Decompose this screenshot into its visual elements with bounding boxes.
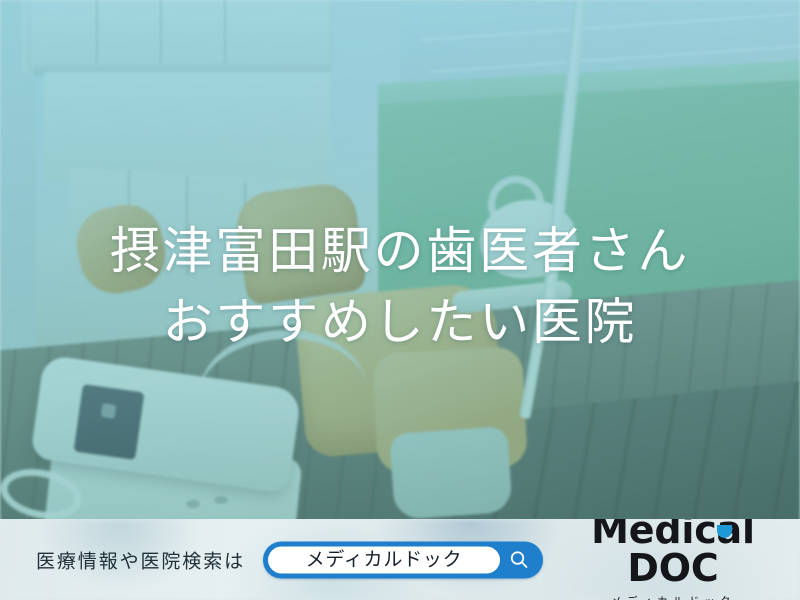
search-icon[interactable] bbox=[500, 541, 538, 578]
page-title: 摂津富田駅の歯医者さん おすすめしたい医院 bbox=[0, 216, 800, 358]
headline-line-1: 摂津富田駅の歯医者さん bbox=[0, 216, 800, 287]
brand-logo[interactable]: Medical DOC メディカルドック bbox=[570, 519, 776, 600]
headline-line-2: おすすめしたい医院 bbox=[0, 287, 800, 358]
search-input-value: メディカルドック bbox=[306, 550, 463, 569]
promo-banner: 摂津富田駅の歯医者さん おすすめしたい医院 医療情報や医院検索は メディカルドッ… bbox=[0, 0, 800, 600]
footer-bar: 医療情報や医院検索は メディカルドック Medical DOC bbox=[0, 519, 800, 600]
logo-wordmark: Medical DOC bbox=[570, 519, 776, 587]
logo-subtitle: メディカルドック bbox=[570, 593, 776, 600]
search-input[interactable]: メディカルドック bbox=[268, 546, 500, 573]
footer-tagline: 医療情報や医院検索は bbox=[36, 546, 245, 573]
search-bar[interactable]: メディカルドック bbox=[263, 541, 543, 578]
